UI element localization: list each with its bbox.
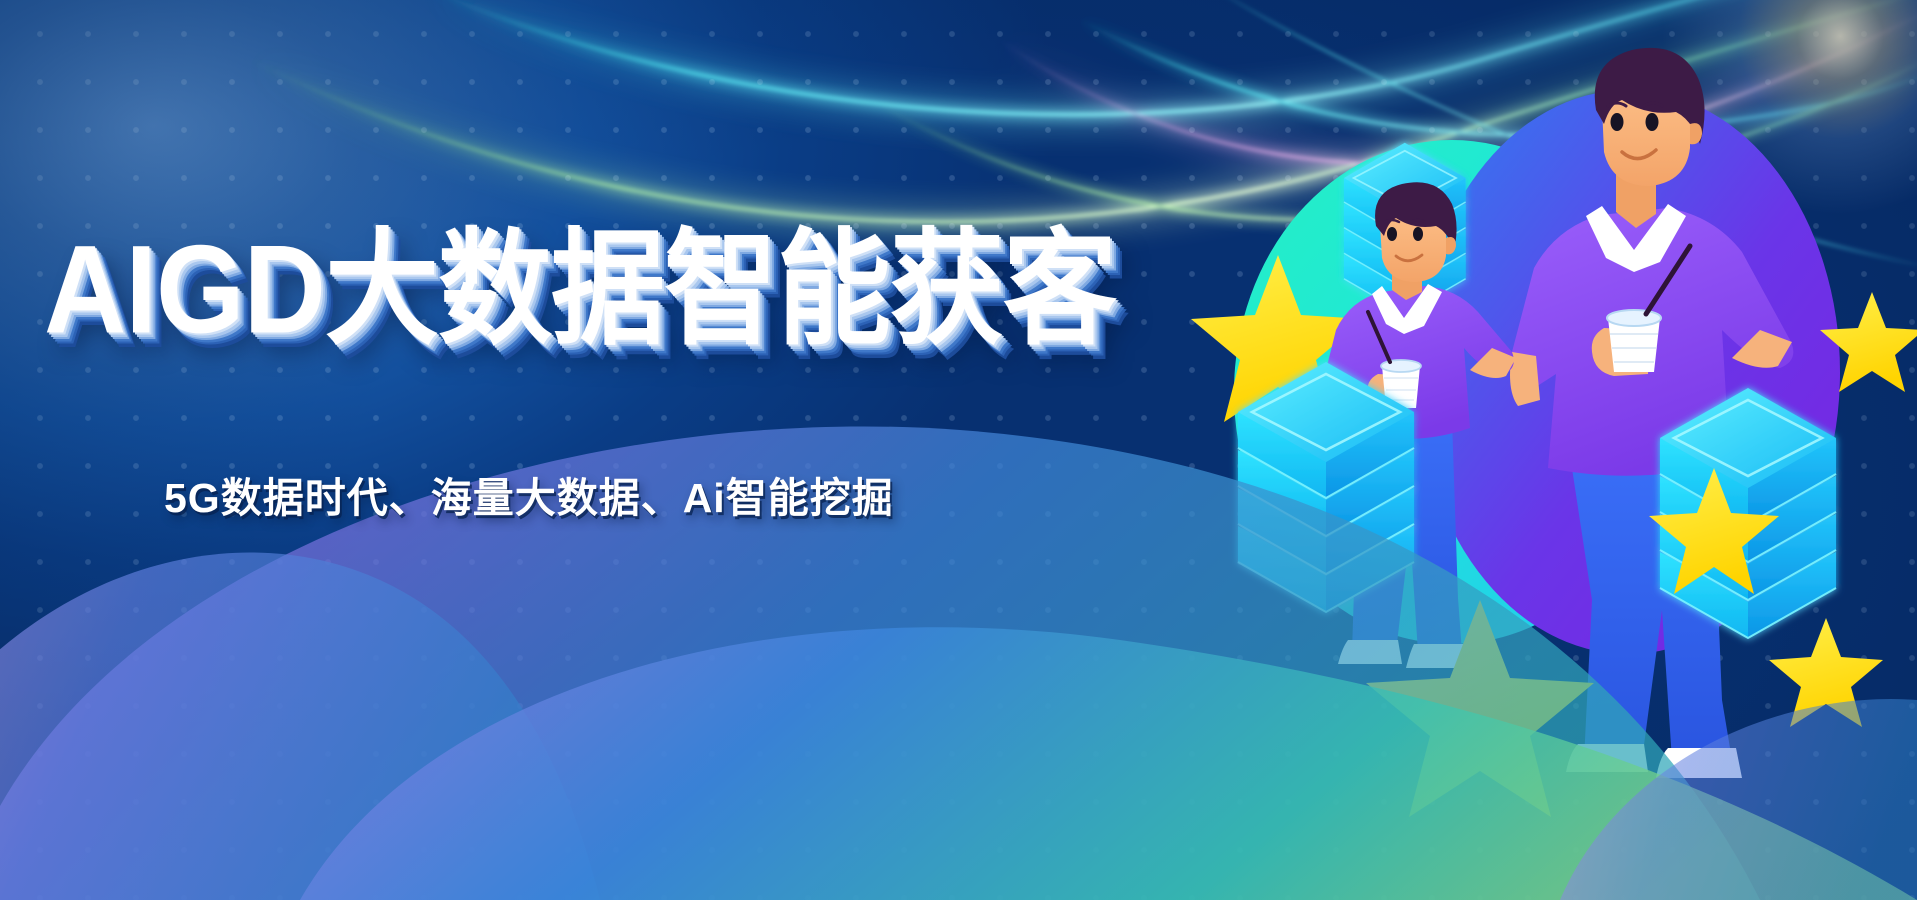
- character-tall-shoe-left: [1566, 744, 1648, 772]
- character-tall-eye-left: [1611, 113, 1624, 131]
- character-tall-shoe-right: [1656, 748, 1742, 778]
- character-small-eye-left: [1387, 227, 1397, 241]
- server-stack-left: [1238, 362, 1414, 612]
- cup-lid: [1607, 310, 1661, 326]
- banner-subtitle: 5G数据时代、海量大数据、Ai智能挖掘: [164, 464, 1164, 524]
- page-title: AIGD大数据智能获客: [44, 228, 1164, 353]
- character-small-shoe-left: [1338, 640, 1402, 664]
- cup-lid-small: [1381, 360, 1421, 372]
- promo-banner: AIGD大数据智能获客 5G数据时代、海量大数据、Ai智能挖掘: [0, 0, 1917, 900]
- banner-copy: AIGD大数据智能获客 5G数据时代、海量大数据、Ai智能挖掘: [44, 228, 1164, 524]
- character-tall-eye-right: [1646, 113, 1659, 131]
- server-stack-right: [1660, 388, 1836, 638]
- star-bottom-right: [1769, 618, 1883, 727]
- character-small-eye-right: [1413, 227, 1423, 241]
